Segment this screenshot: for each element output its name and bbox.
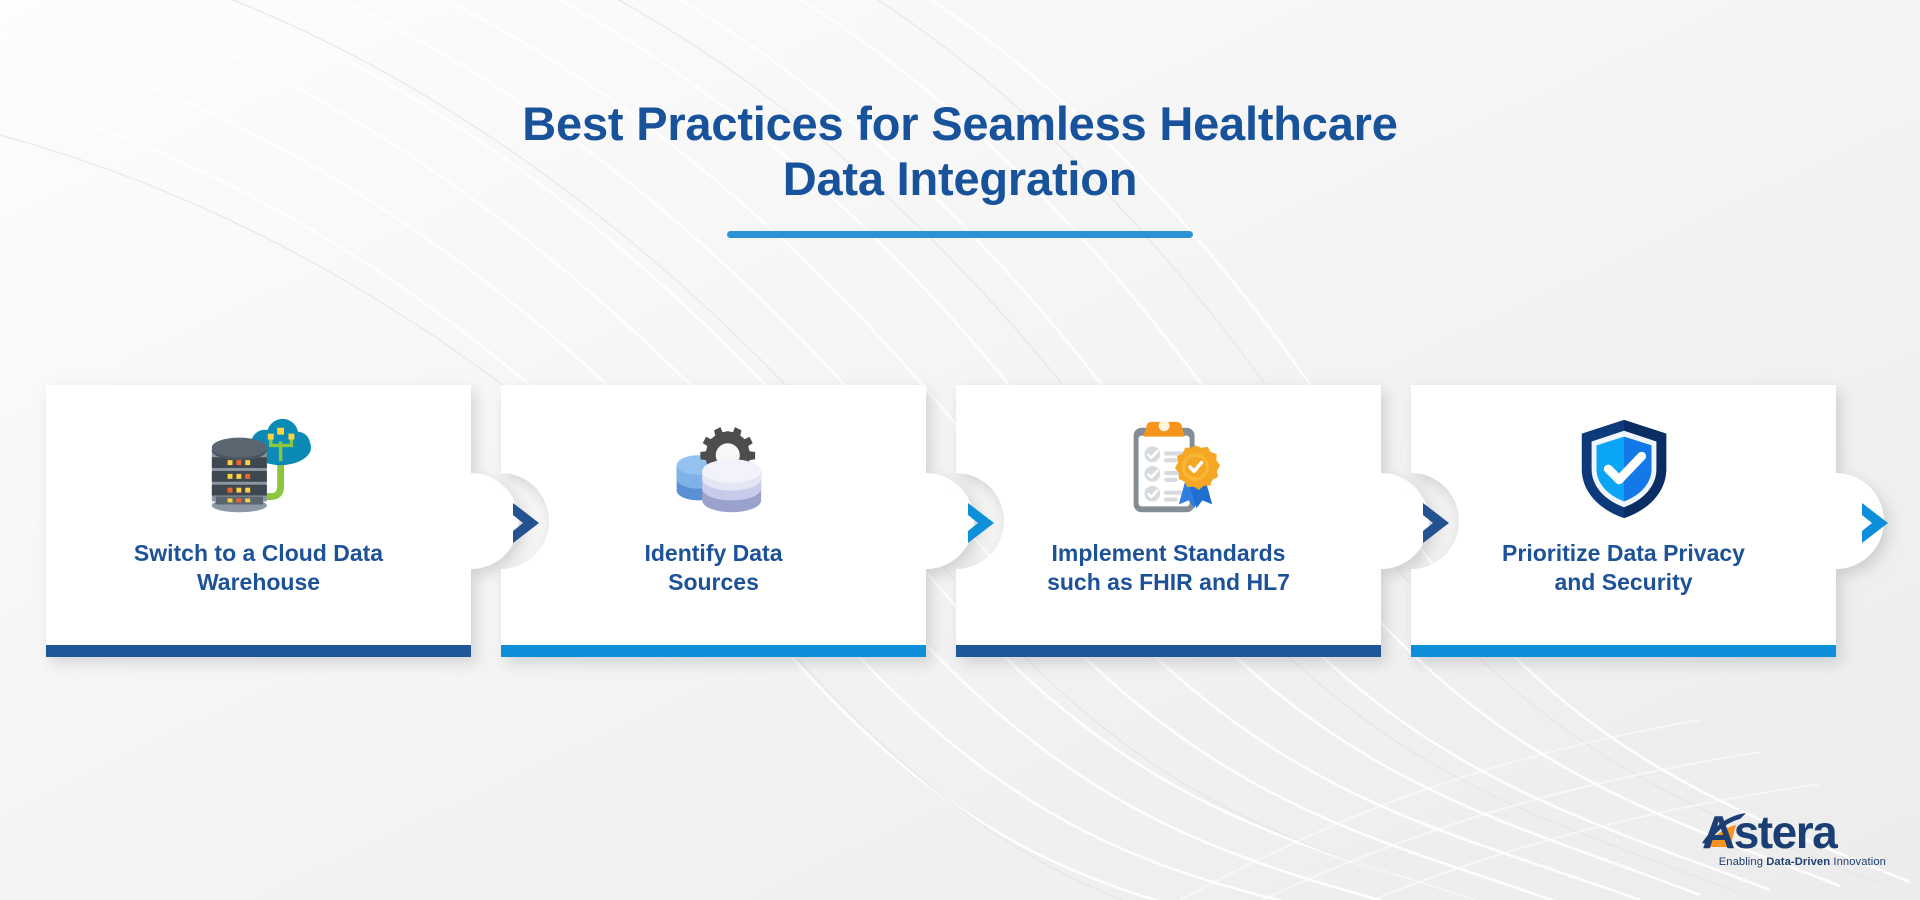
database-gear-icon — [654, 413, 774, 525]
step-card-2-accent-bar — [501, 645, 926, 657]
step-card-3-label-line2: such as FHIR and HL7 — [1047, 569, 1290, 595]
page-title-line-1: Best Practices for Seamless Healthcare — [0, 96, 1920, 151]
step-card-4[interactable]: Prioritize Data Privacy and Security — [1411, 385, 1836, 657]
astera-tagline: Enabling Data-Driven Innovation — [1700, 856, 1886, 868]
astera-logo[interactable]: Astera Enabling Data-Driven Innovation — [1700, 803, 1886, 868]
step-card-3-accent-bar — [956, 645, 1381, 657]
shield-check-icon — [1564, 413, 1684, 525]
step-card-1-label-line2: Warehouse — [197, 569, 320, 595]
astera-wordmark: Astera — [1700, 803, 1886, 855]
step-card-2[interactable]: Identify Data Sources — [501, 385, 926, 657]
tagline-prefix: Enabling — [1719, 856, 1767, 868]
cloud-database-icon — [199, 413, 319, 525]
page-title: Best Practices for Seamless Healthcare D… — [0, 96, 1920, 238]
step-card-2-label: Identify Data Sources — [549, 539, 879, 598]
tagline-bold: Data-Driven — [1766, 856, 1830, 868]
step-card-1-label: Switch to a Cloud Data Warehouse — [94, 539, 424, 598]
step-card-1-label-line1: Switch to a Cloud Data — [134, 540, 383, 566]
step-card-4-label-line1: Prioritize Data Privacy — [1502, 540, 1745, 566]
chevron-right-icon-4[interactable] — [1858, 501, 1892, 545]
chevron-right-icon-1[interactable] — [509, 501, 543, 545]
tagline-suffix: Innovation — [1830, 856, 1886, 868]
step-card-4-label-line2: and Security — [1554, 569, 1692, 595]
clipboard-checklist-award-icon — [1109, 413, 1229, 525]
step-card-2-label-line1: Identify Data — [644, 540, 782, 566]
step-card-1[interactable]: Switch to a Cloud Data Warehouse — [46, 385, 471, 657]
step-card-2-label-line2: Sources — [668, 569, 759, 595]
chevron-right-icon-3[interactable] — [1419, 501, 1453, 545]
page-title-line-2: Data Integration — [0, 151, 1920, 206]
step-card-3[interactable]: Implement Standards such as FHIR and HL7 — [956, 385, 1381, 657]
step-card-4-label: Prioritize Data Privacy and Security — [1459, 539, 1789, 598]
svg-text:Astera: Astera — [1702, 806, 1838, 855]
step-card-1-accent-bar — [46, 645, 471, 657]
step-card-4-accent-bar — [1411, 645, 1836, 657]
step-card-3-label: Implement Standards such as FHIR and HL7 — [1004, 539, 1334, 598]
title-underline-rule — [727, 231, 1193, 238]
step-card-3-label-line1: Implement Standards — [1052, 540, 1286, 566]
chevron-right-icon-2[interactable] — [964, 501, 998, 545]
steps-row: Switch to a Cloud Data Warehouse — [46, 385, 1874, 660]
